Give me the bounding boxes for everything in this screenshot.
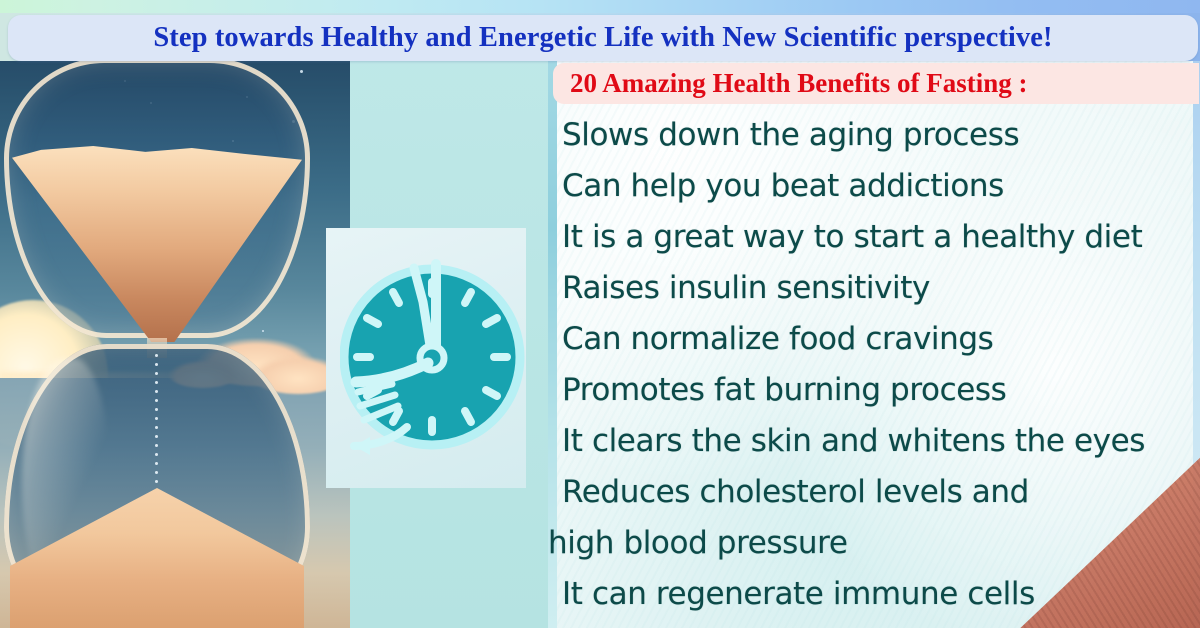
benefit-item-1: Slows down the aging process — [562, 120, 1200, 151]
section-heading-box: 20 Amazing Health Benefits of Fasting : — [553, 63, 1199, 104]
benefit-item-10: It can regenerate immune cells — [562, 579, 1200, 610]
sand-stream — [155, 354, 158, 490]
benefit-item-5: Can normalize food cravings — [562, 324, 1200, 355]
benefit-item-2: Can help you beat addictions — [562, 171, 1200, 202]
benefit-item-3: It is a great way to start a healthy die… — [562, 222, 1200, 253]
benefit-item-9: high blood pressure — [548, 528, 1198, 559]
top-gradient-strip — [0, 0, 1200, 13]
page-title: Step towards Healthy and Energetic Life … — [153, 24, 1052, 53]
benefit-item-8: Reduces cholesterol levels and — [562, 477, 1200, 508]
benefit-item-4: Raises insulin sensitivity — [562, 273, 1200, 304]
benefit-item-7: It clears the skin and whitens the eyes — [562, 426, 1200, 457]
benefit-item-6: Promotes fat burning process — [562, 375, 1200, 406]
clock-with-fork-icon — [340, 232, 525, 482]
header-banner: Step towards Healthy and Energetic Life … — [8, 15, 1198, 61]
hourglass-body — [4, 58, 310, 628]
section-heading-text: 20 Amazing Health Benefits of Fasting : — [553, 70, 1027, 97]
hourglass-illustration — [0, 0, 352, 628]
benefits-list: Slows down the aging process Can help yo… — [548, 112, 1200, 628]
poster-canvas: Slows down the aging process Can help yo… — [0, 0, 1200, 628]
